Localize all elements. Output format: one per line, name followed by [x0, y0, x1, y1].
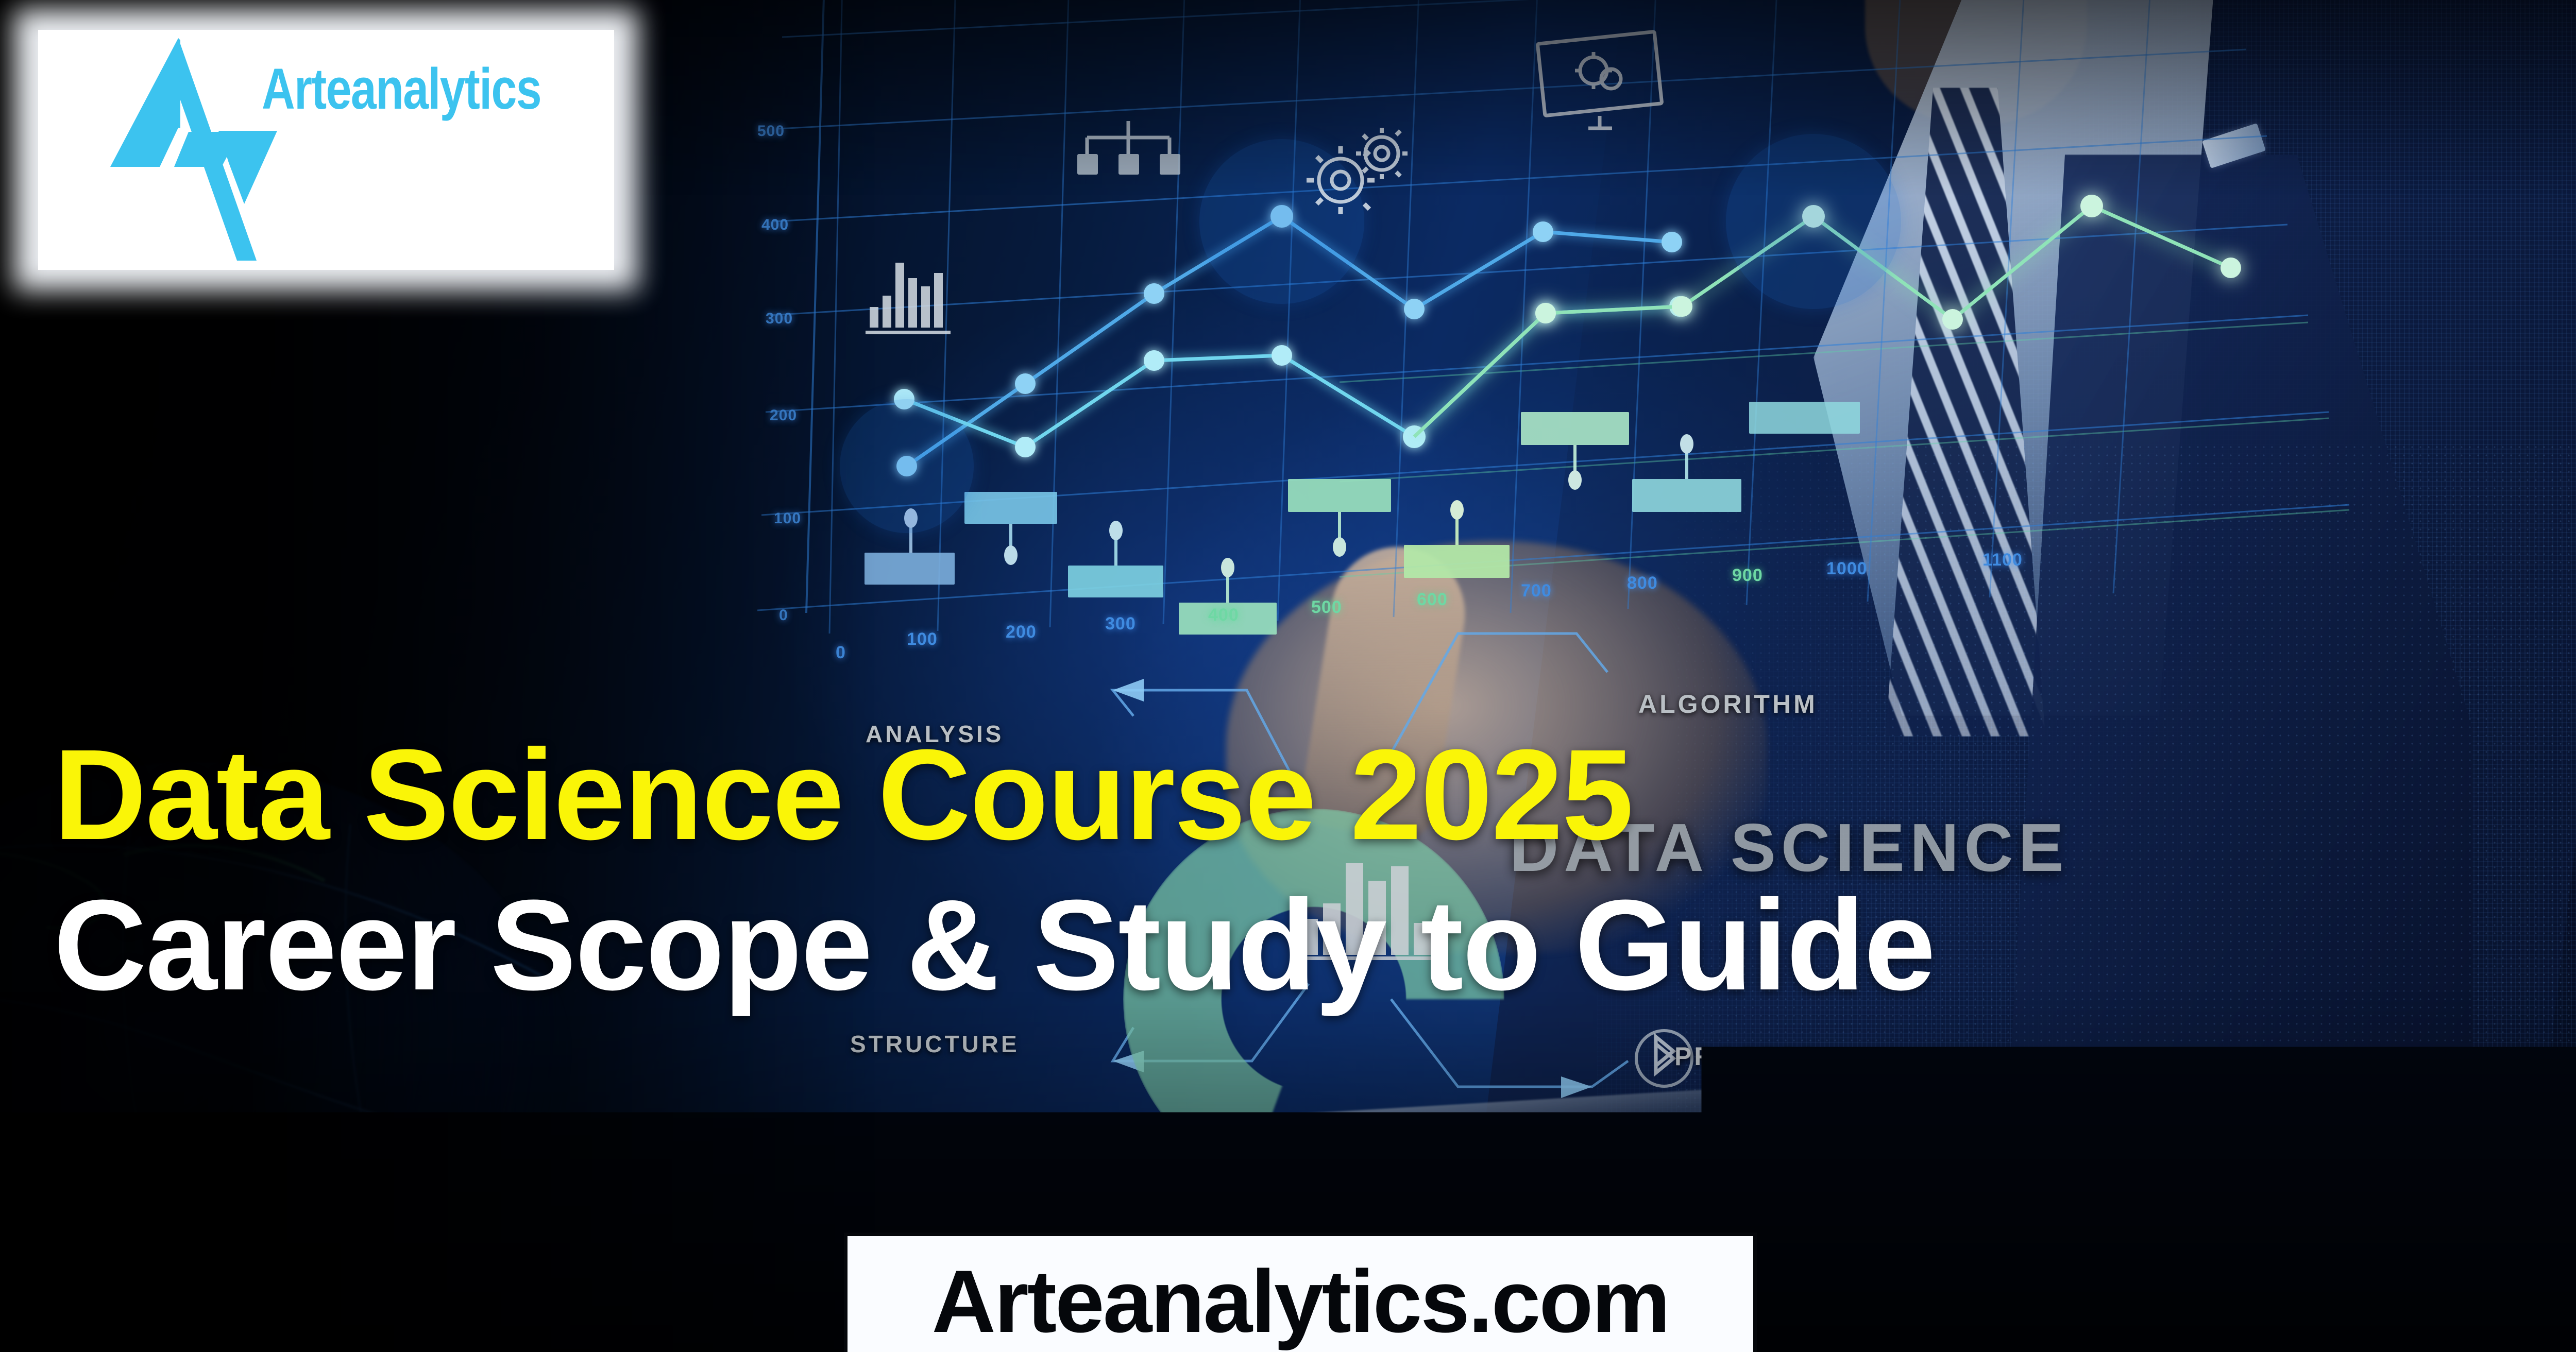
x-tick-label: 800 [1627, 573, 1658, 593]
x-tick-label: 900 [1732, 566, 1763, 586]
node-label-algorithm: ALGORITHM [1638, 689, 1818, 719]
x-tick-label: 1000 [1826, 559, 1868, 579]
x-tick-label: 500 [1311, 597, 1342, 618]
logo-wordmark: Arteanalytics [262, 56, 541, 122]
page-subtitle: Career Scope & Study to Guide [54, 882, 1935, 1008]
website-url-box[interactable]: Arteanalytics.com [844, 1233, 1757, 1352]
website-url-text: Arteanalytics.com [932, 1251, 1669, 1352]
x-tick-label: 200 [1006, 622, 1037, 642]
x-tick-label: 1100 [1982, 550, 2023, 570]
banner-canvas: 0 100 200 300 400 500 0 100 200 300 400 … [0, 0, 2576, 1352]
x-tick-label: 400 [1208, 605, 1239, 625]
page-title: Data Science Course 2025 [54, 731, 1633, 858]
x-tick-label: 600 [1417, 590, 1448, 610]
x-tick-label: 100 [907, 629, 938, 649]
x-tick-label: 300 [1105, 614, 1136, 634]
box-bars [865, 402, 1860, 635]
x-tick-label: 700 [1521, 581, 1552, 601]
bar-chart-icon [866, 252, 963, 340]
logo-block[interactable]: Arteanalytics [14, 9, 638, 290]
